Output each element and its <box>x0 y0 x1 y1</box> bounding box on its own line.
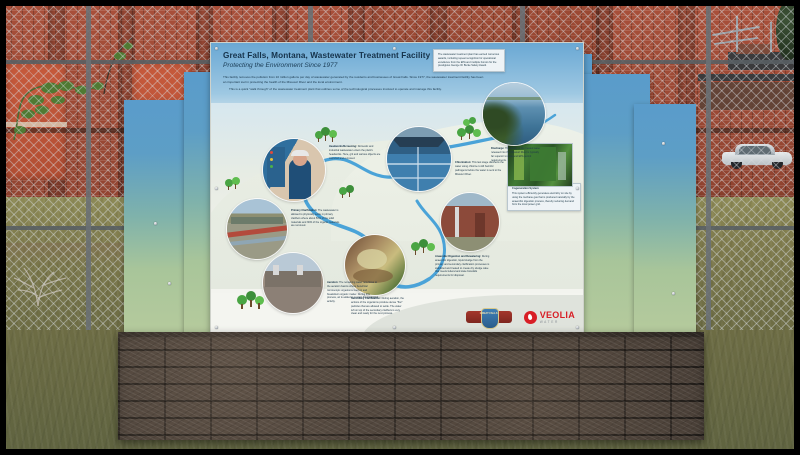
stone-texture <box>118 332 704 440</box>
seal-text: GREAT FALLS <box>466 312 512 315</box>
plaque-bolt <box>215 326 218 329</box>
plaque-bolt <box>576 47 579 50</box>
awards-callout-text: The wastewater treatment plant has earne… <box>438 53 499 67</box>
caption-discharge: Discharge: The quality of the treated wa… <box>491 147 541 162</box>
veolia-water-logo: VEOLIA WATER <box>524 311 575 324</box>
panel-bolt <box>672 292 675 295</box>
intro-paragraph-1: This facility removes the pollution from… <box>223 75 485 85</box>
operator-at-control-panel-photo <box>263 139 325 201</box>
plaque-bolt <box>576 326 579 329</box>
plaque-bolt <box>393 47 396 50</box>
panel-bolt <box>168 282 171 285</box>
missouri-river-photo <box>483 83 545 145</box>
awards-callout-box: The wastewater treatment plant has earne… <box>433 49 505 72</box>
bush-cluster <box>315 127 339 143</box>
cogeneration-callout-box: Cogeneration System This system efficien… <box>507 183 581 211</box>
caption-chlorination-title: Chlorination: <box>455 161 471 164</box>
rooftop-ledge <box>698 74 800 81</box>
bush-cluster <box>411 239 437 255</box>
caption-primary-title: Primary Clarification: <box>291 209 317 212</box>
aeration-basins-photo <box>263 253 323 313</box>
bare-shrub <box>8 238 78 308</box>
plaque-bolt <box>215 187 218 190</box>
cogeneration-callout-title: Cogeneration System <box>512 187 576 191</box>
great-falls-city-seal: GREAT FALLS <box>466 308 512 328</box>
sign-backing-step-4 <box>634 104 696 342</box>
sign-face-plaque[interactable]: Missouri River Missouri River Great Fall… <box>210 42 584 334</box>
caption-digestion-title: Anaerobic Digestion and Dewatering: <box>435 255 481 258</box>
caption-secondary-title: Secondary Clarification: <box>351 297 381 300</box>
veolia-wordmark: VEOLIA WATER <box>540 311 575 324</box>
veolia-name: VEOLIA <box>540 311 575 320</box>
car-window <box>739 146 771 154</box>
plaque-bolt <box>215 47 218 50</box>
veolia-droplet-icon <box>524 311 537 324</box>
bush-cluster <box>237 291 267 309</box>
plaque-bolt <box>393 326 396 329</box>
shadowed-recess <box>700 82 800 110</box>
car-wheel <box>772 162 783 169</box>
panel-bolt <box>662 142 665 145</box>
caption-anaerobic-digestion: Anaerobic Digestion and Dewatering: Duri… <box>435 255 491 278</box>
plaque-bolt <box>576 187 579 190</box>
bush-cluster <box>225 177 245 191</box>
screenshot-root: Missouri River Missouri River Great Fall… <box>0 0 800 455</box>
logo-row: GREAT FALLS VEOLIA WATER <box>466 308 575 328</box>
chlorine-contact-basin-photo <box>387 127 451 191</box>
caption-headworks-title: Headworks/Screening: <box>329 145 357 148</box>
caption-discharge-title: Discharge: <box>491 147 504 150</box>
veolia-sub: WATER <box>540 321 575 324</box>
caption-secondary-clarification: Secondary Clarification: During aeration… <box>351 297 405 316</box>
panel-bolt <box>154 222 157 225</box>
caption-chlorination: Chlorination: This last stage disinfects… <box>455 161 505 176</box>
evergreen-tree <box>776 2 800 60</box>
intro-paragraph-2: This is a quick "walk through" of the wa… <box>223 87 485 92</box>
primary-clarifier-tanks-photo <box>227 199 287 259</box>
cogeneration-callout-text: This system efficiently generates electr… <box>512 192 575 206</box>
sign-intro-text: This facility removes the pollution from… <box>223 75 485 94</box>
caption-primary-clarification: Primary Clarification: The wastewater is… <box>291 209 343 228</box>
antenna-mast <box>770 22 772 52</box>
digester-building-photo <box>441 193 499 251</box>
caption-headworks: Headworks/Screening: Domestic and indust… <box>329 145 381 160</box>
stone-masonry-base <box>118 332 704 440</box>
antenna-mast <box>736 16 738 52</box>
fence-post <box>706 0 711 330</box>
parked-car <box>722 143 792 168</box>
interpretive-sign[interactable]: Missouri River Missouri River Great Fall… <box>124 42 696 342</box>
rooftop-vent <box>736 44 770 54</box>
bush-cluster <box>339 185 359 199</box>
caption-aeration-title: Aeration: <box>327 281 338 284</box>
bush-cluster <box>463 117 481 129</box>
fence-post <box>86 0 91 330</box>
caption-digestion-text: During anaerobic digestion, liquid sludg… <box>435 255 489 277</box>
car-wheel <box>731 162 742 169</box>
